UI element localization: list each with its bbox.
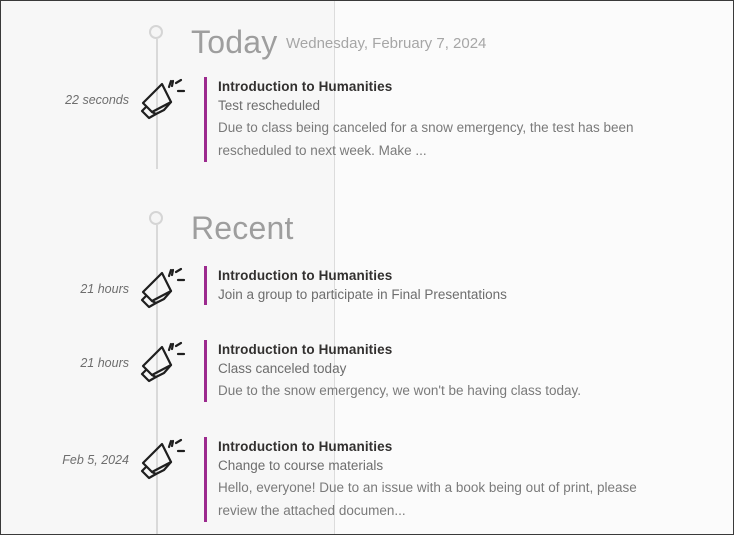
notification-description-line-2: review the attached documen... [218, 499, 697, 522]
notification-course: Introduction to Humanities [218, 437, 697, 456]
notification-description-line-1: Hello, everyone! Due to an issue with a … [218, 476, 697, 499]
megaphone-icon [134, 340, 186, 388]
notification-timestamp: 22 seconds [1, 93, 129, 107]
notification-subject: Join a group to participate in Final Pre… [218, 285, 697, 305]
notification-timestamp: 21 hours [1, 282, 129, 296]
notification-body: Introduction to Humanities Change to cou… [204, 437, 697, 522]
activity-stream: Today Wednesday, February 7, 2024 22 sec… [1, 1, 733, 534]
section-date-today: Wednesday, February 7, 2024 [286, 36, 486, 51]
notification-body: Introduction to Humanities Join a group … [204, 266, 697, 305]
notification-course: Introduction to Humanities [218, 266, 697, 285]
notification-description-line-1: Due to the snow emergency, we won't be h… [218, 379, 697, 402]
megaphone-icon [134, 437, 186, 485]
notification-description-line-1: Due to class being canceled for a snow e… [218, 116, 697, 139]
notification-course: Introduction to Humanities [218, 340, 697, 359]
megaphone-icon [134, 77, 186, 125]
section-title-today: Today [191, 26, 277, 58]
notification-body: Introduction to Humanities Class cancele… [204, 340, 697, 402]
notification-description-line-2: rescheduled to next week. Make ... [218, 139, 697, 162]
timeline-node-icon [149, 25, 163, 39]
notification-subject: Test rescheduled [218, 96, 697, 116]
notification-timestamp: 21 hours [1, 356, 129, 370]
megaphone-icon [134, 266, 186, 314]
timeline-node-icon [149, 211, 163, 225]
notification-course: Introduction to Humanities [218, 77, 697, 96]
notification-timestamp: Feb 5, 2024 [1, 453, 129, 467]
notification-subject: Change to course materials [218, 456, 697, 476]
section-title-recent: Recent [191, 212, 294, 244]
notification-body: Introduction to Humanities Test reschedu… [204, 77, 697, 162]
notification-subject: Class canceled today [218, 359, 697, 379]
notifications-window: Today Wednesday, February 7, 2024 22 sec… [0, 0, 734, 535]
